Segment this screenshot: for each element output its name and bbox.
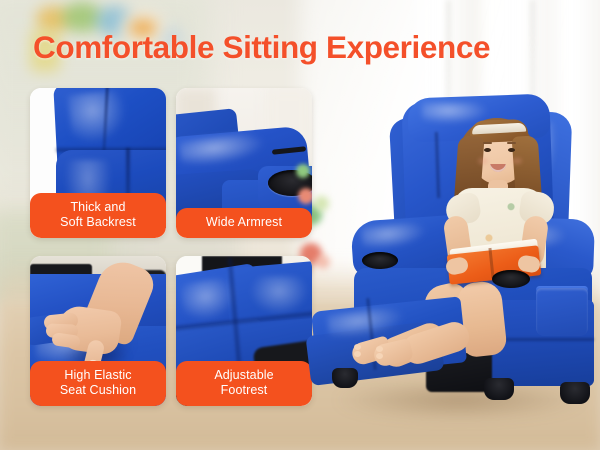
feature-caption-badge: Adjustable Footrest: [176, 361, 312, 406]
backrest-highlight: [67, 89, 130, 147]
child-eye: [508, 148, 515, 152]
feature-caption-text: Thick and Soft Backrest: [60, 200, 136, 230]
page-title: Comfortable Sitting Experience: [33, 29, 490, 66]
armrest-background-toy: [296, 164, 310, 178]
feature-caption-badge: Wide Armrest: [176, 208, 312, 238]
feature-card-adjustable-footrest[interactable]: Adjustable Footrest: [176, 256, 312, 406]
feature-caption-badge: High Elastic Seat Cushion: [30, 361, 166, 406]
side-pocket: [536, 288, 588, 336]
feature-caption-text: High Elastic Seat Cushion: [60, 368, 136, 398]
hero-product-photo: [318, 92, 600, 450]
child-cheek: [512, 158, 522, 164]
product-banner: Comfortable Sitting Experience Thick and…: [0, 0, 600, 450]
feature-caption-text: Adjustable Footrest: [214, 368, 273, 398]
child-toes: [354, 344, 361, 350]
feature-card-wide-armrest[interactable]: Wide Armrest: [176, 88, 312, 238]
feature-caption-text: Wide Armrest: [206, 215, 282, 230]
child-toes: [376, 346, 383, 352]
child-eyebrow: [507, 142, 516, 144]
child-cheek: [478, 158, 488, 164]
feature-card-high-elastic-seat-cushion[interactable]: High Elastic Seat Cushion: [30, 256, 166, 406]
feature-card-grid: Thick and Soft Backrest Wide Ar: [30, 88, 312, 408]
recliner-leg-rear: [560, 382, 590, 404]
cup-holder-left-icon: [362, 252, 398, 269]
child-eyebrow: [483, 142, 492, 144]
recliner-footrest-leg: [332, 368, 358, 388]
child-toes: [354, 351, 361, 357]
recliner-leg-front: [484, 378, 514, 400]
cup-holder-right-icon: [492, 270, 530, 288]
child-toes: [376, 353, 383, 359]
armrest-background-toy: [298, 188, 312, 204]
child-eye: [484, 148, 491, 152]
feature-card-thick-soft-backrest[interactable]: Thick and Soft Backrest: [30, 88, 166, 238]
feature-caption-badge: Thick and Soft Backrest: [30, 193, 166, 238]
footrest-highlight: [250, 276, 308, 314]
